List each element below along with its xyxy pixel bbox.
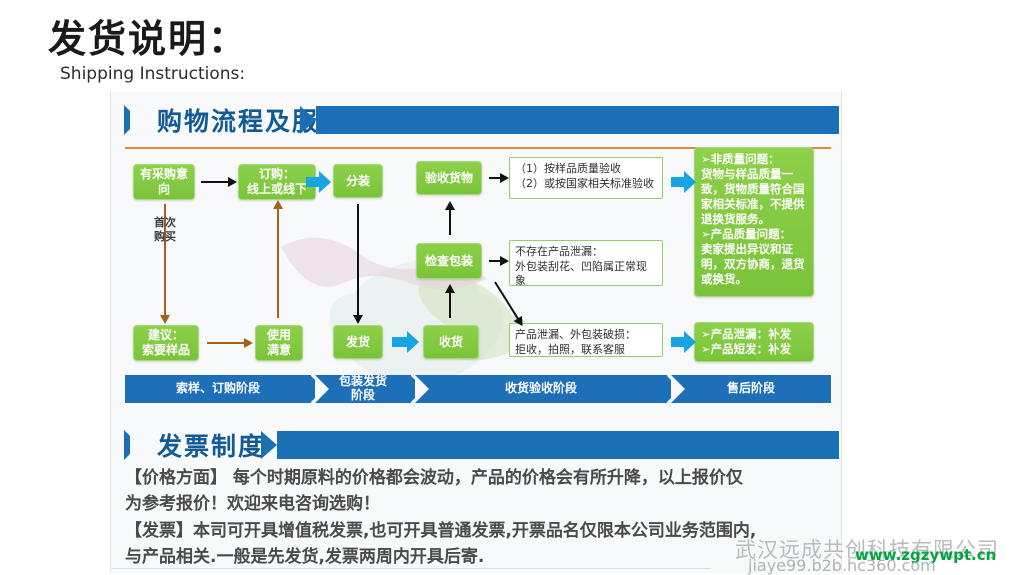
arrow-ship-to-receive: [392, 337, 408, 347]
invoice-line: 为参考报价！欢迎来电咨询选购！: [125, 491, 842, 517]
process-banner: 购物流程及服务说明: [111, 100, 841, 140]
banner-arrow-icon: [300, 106, 316, 134]
stage-notch-icon: [671, 375, 685, 403]
chevron-left-cut-icon: [130, 435, 140, 455]
stage-after-sales[interactable]: 售后阶段: [671, 375, 831, 403]
box-request-sample[interactable]: 建议： 索要样品: [133, 325, 199, 361]
stage-label: 索样、订购阶段: [176, 382, 260, 396]
stage-notch-icon: [315, 375, 329, 403]
chevron-left-cut-icon: [130, 110, 140, 130]
invoice-line: 【价格方面】 每个时期原料的价格都会波动，产品的价格会有所升降，以上报价仅: [125, 465, 842, 491]
arrow-sample-to-satisfied: [207, 342, 245, 344]
arrow-order-to-repack: [306, 177, 320, 187]
invoice-policy-text: 【价格方面】 每个时期原料的价格都会波动，产品的价格会有所升降，以上报价仅 为参…: [125, 465, 842, 570]
arrow-note-to-compensation: [671, 337, 685, 347]
stage-label: 收货验收阶段: [505, 382, 577, 396]
note-package-condition: 不存在产品泄漏： 外包装刮花、凹陷属正常现象: [509, 240, 663, 286]
invoice-banner-title: 发票制度: [157, 427, 265, 463]
arrow-check-to-inspect: [449, 209, 451, 235]
note-inspection-standard: （1）按样品质量验收 （2）或按国家相关标准验收: [509, 157, 663, 199]
box-compensation-policy[interactable]: ➢产品泄漏：补发 ➢产品短发：补发: [694, 322, 814, 362]
stage-label: 售后阶段: [727, 382, 775, 396]
arrow-check-to-note: [489, 260, 501, 262]
arrow-receive-to-check: [449, 292, 451, 318]
page-title: 发货说明：: [48, 8, 248, 63]
page-subtitle: Shipping Instructions:: [60, 64, 245, 84]
flower-watermark-icon: [261, 187, 571, 402]
box-receive-goods[interactable]: 收货: [423, 325, 479, 359]
box-after-sales-policy[interactable]: ➢非质量问题： 货物与样品质量一致，货物质量符合国家相关标准，不提供退换货服务。…: [694, 147, 814, 297]
box-satisfied[interactable]: 使用 满意: [255, 325, 303, 361]
stage-sample-order[interactable]: 索样、订购阶段: [125, 375, 311, 403]
stage-pack-ship[interactable]: 包装发货 阶段: [315, 375, 411, 403]
shipping-process-diagram: 购物流程及服务说明 有采购意向 订购： 线上或线下 建议： 索要样品 使用 满意…: [110, 92, 842, 573]
arrow-note-to-after-sales: [671, 177, 685, 187]
invoice-line: 与产品相关.一般是先发货,发票两周内开具后寄.: [125, 544, 842, 570]
arrow-satisfied-to-order: [277, 208, 279, 318]
stage-receive-inspect[interactable]: 收货验收阶段: [415, 375, 667, 403]
box-check-package[interactable]: 检查包装: [416, 243, 482, 279]
label-first-purchase: 首次 购买: [139, 216, 191, 245]
box-inspect-goods[interactable]: 验收货物: [416, 161, 482, 195]
stage-label: 包装发货 阶段: [339, 375, 387, 403]
stage-notch-icon: [415, 375, 429, 403]
invoice-line: 【发票】本司可开具增值税发票,也可开具普通发票,开票品名仅限本公司业务范围内,: [125, 518, 842, 544]
banner-bar: [316, 106, 839, 134]
banner-arrow-icon: [261, 431, 277, 459]
box-purchase-intent[interactable]: 有采购意向: [133, 164, 195, 200]
box-repack[interactable]: 分装: [333, 164, 383, 198]
stage-bar: 索样、订购阶段 包装发货 阶段 收货验收阶段 售后阶段: [125, 375, 831, 403]
invoice-banner: 发票制度: [111, 425, 841, 465]
bottom-divider: [110, 568, 710, 569]
arrow-inspect-to-note: [489, 177, 501, 179]
note-damage-handling: 产品泄漏、外包装破损： 拒收，拍照，联系客服: [509, 323, 663, 357]
watermark-website: www.zgzywpt.cn: [855, 546, 996, 564]
arrow-intent-to-order: [201, 181, 229, 183]
arrow-repack-to-ship: [357, 204, 359, 316]
banner-bar: [277, 431, 839, 459]
box-ship-goods[interactable]: 发货: [333, 325, 383, 359]
box-place-order[interactable]: 订购： 线上或线下: [238, 164, 316, 200]
